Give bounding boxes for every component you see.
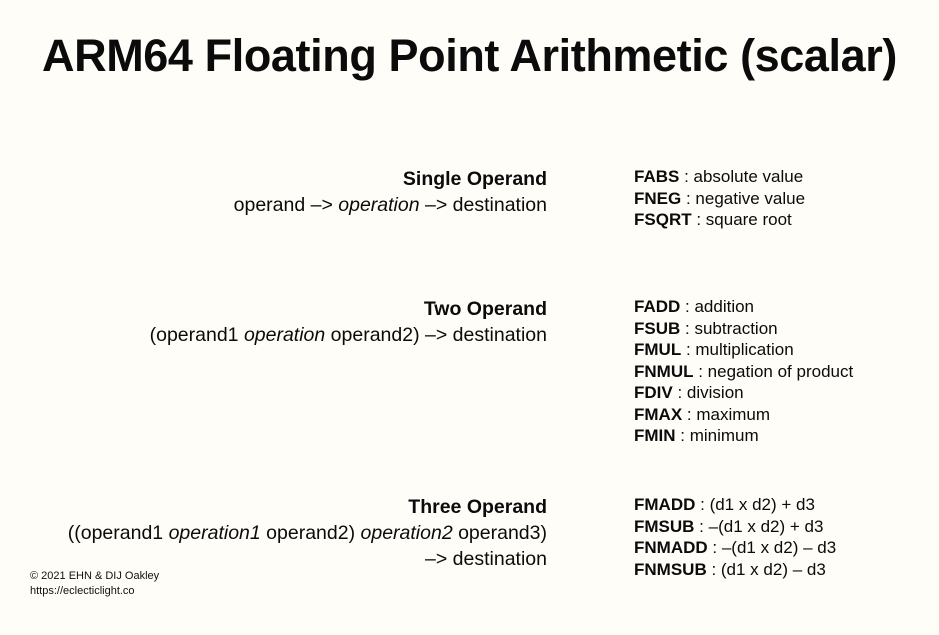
formula-text: –> [311,194,333,216]
instruction-mnemonic: FDIV [634,383,673,402]
formula-text: destination [447,194,547,216]
instruction-description: square root [706,210,792,229]
formula-line: operand –> operation –> destination [20,192,547,218]
instruction-row: FNMSUB : (d1 x d2) – d3 [634,559,934,581]
instruction-row: FMUL : multiplication [634,339,934,361]
formula-text: destination [447,324,547,346]
instruction-row: FNMADD : –(d1 x d2) – d3 [634,537,934,559]
instruction-separator: : [693,362,707,381]
description-column-two: Two Operand (operand1 operation operand2… [20,296,547,348]
description-column-single: Single Operand operand –> operation –> d… [20,166,547,218]
instruction-mnemonic: FNMUL [634,362,693,381]
instruction-separator: : [676,426,690,445]
formula-text: destination [447,548,547,570]
instruction-mnemonic: FSUB [634,319,680,338]
instruction-separator: : [694,517,708,536]
instruction-separator: : [673,383,687,402]
instruction-list-single: FABS : absolute valueFNEG : negative val… [634,166,934,231]
section-heading-two: Two Operand [20,296,547,322]
formula-text: –> [425,548,447,570]
instruction-list-three: FMADD : (d1 x d2) + d3FMSUB : –(d1 x d2)… [634,494,934,580]
instruction-description: (d1 x d2) + d3 [710,495,815,514]
formula-operation-term: operation2 [361,522,453,544]
formula-operation-term: operation [338,194,419,216]
instruction-row: FMIN : minimum [634,425,934,447]
footer: © 2021 EHN & DIJ Oakley https://eclectic… [30,569,159,599]
instruction-description: multiplication [695,340,793,359]
instruction-row: FMSUB : –(d1 x d2) + d3 [634,516,934,538]
instruction-description: (d1 x d2) – d3 [721,560,826,579]
instruction-mnemonic: FMUL [634,340,681,359]
footer-copyright: © 2021 EHN & DIJ Oakley [30,569,159,584]
formula-text: –> [425,194,447,216]
formula-text: (operand1 [150,324,244,346]
instruction-description: division [687,383,744,402]
instruction-description: negation of product [708,362,854,381]
section-heading-three: Three Operand [20,494,547,520]
formula-operation-term: operation [244,324,325,346]
slide-canvas: ARM64 Floating Point Arithmetic (scalar)… [0,0,939,635]
formula-three: ((operand1 operation1 operand2) operatio… [20,520,547,572]
instruction-mnemonic: FMSUB [634,517,694,536]
instruction-mnemonic: FADD [634,297,680,316]
formula-text: ((operand1 [68,522,169,544]
instruction-row: FSQRT : square root [634,209,934,231]
instruction-row: FMADD : (d1 x d2) + d3 [634,494,934,516]
instruction-mnemonic: FSQRT [634,210,692,229]
instruction-mnemonic: FNEG [634,189,681,208]
formula-line: ((operand1 operation1 operand2) operatio… [20,520,547,546]
instruction-separator: : [679,167,693,186]
instruction-separator: : [682,405,696,424]
instruction-row: FADD : addition [634,296,934,318]
instruction-row: FMAX : maximum [634,404,934,426]
instruction-separator: : [692,210,706,229]
instruction-description: subtraction [694,319,777,338]
instruction-separator: : [680,297,694,316]
formula-single: operand –> operation –> destination [20,192,547,218]
formula-operation-term: operation1 [169,522,261,544]
instruction-description: negative value [695,189,805,208]
formula-two: (operand1 operation operand2) –> destina… [20,322,547,348]
instruction-list-two: FADD : additionFSUB : subtractionFMUL : … [634,296,934,447]
instruction-description: addition [694,297,754,316]
instruction-mnemonic: FMAX [634,405,682,424]
instruction-description: –(d1 x d2) – d3 [722,538,836,557]
instruction-description: absolute value [694,167,804,186]
page-title: ARM64 Floating Point Arithmetic (scalar) [0,28,939,84]
instruction-separator: : [707,560,721,579]
instruction-description: minimum [690,426,759,445]
footer-url[interactable]: https://eclecticlight.co [30,584,159,599]
formula-text: operand2) [325,324,425,346]
instruction-separator: : [708,538,722,557]
instruction-separator: : [681,340,695,359]
formula-text: operand [234,194,311,216]
instruction-mnemonic: FMADD [634,495,695,514]
section-heading-single: Single Operand [20,166,547,192]
instruction-mnemonic: FNMADD [634,538,708,557]
instruction-mnemonic: FABS [634,167,679,186]
formula-text: –> [425,324,447,346]
instruction-separator: : [680,319,694,338]
instruction-description: maximum [696,405,770,424]
formula-text: operand3) [453,522,547,544]
instruction-separator: : [681,189,695,208]
instruction-mnemonic: FNMSUB [634,560,707,579]
formula-line: (operand1 operation operand2) –> destina… [20,322,547,348]
instruction-row: FNEG : negative value [634,188,934,210]
instruction-row: FNMUL : negation of product [634,361,934,383]
instruction-separator: : [695,495,709,514]
instruction-description: –(d1 x d2) + d3 [709,517,824,536]
formula-text: operand2) [261,522,361,544]
instruction-row: FSUB : subtraction [634,318,934,340]
description-column-three: Three Operand ((operand1 operation1 oper… [20,494,547,572]
instruction-row: FABS : absolute value [634,166,934,188]
instruction-row: FDIV : division [634,382,934,404]
instruction-mnemonic: FMIN [634,426,676,445]
